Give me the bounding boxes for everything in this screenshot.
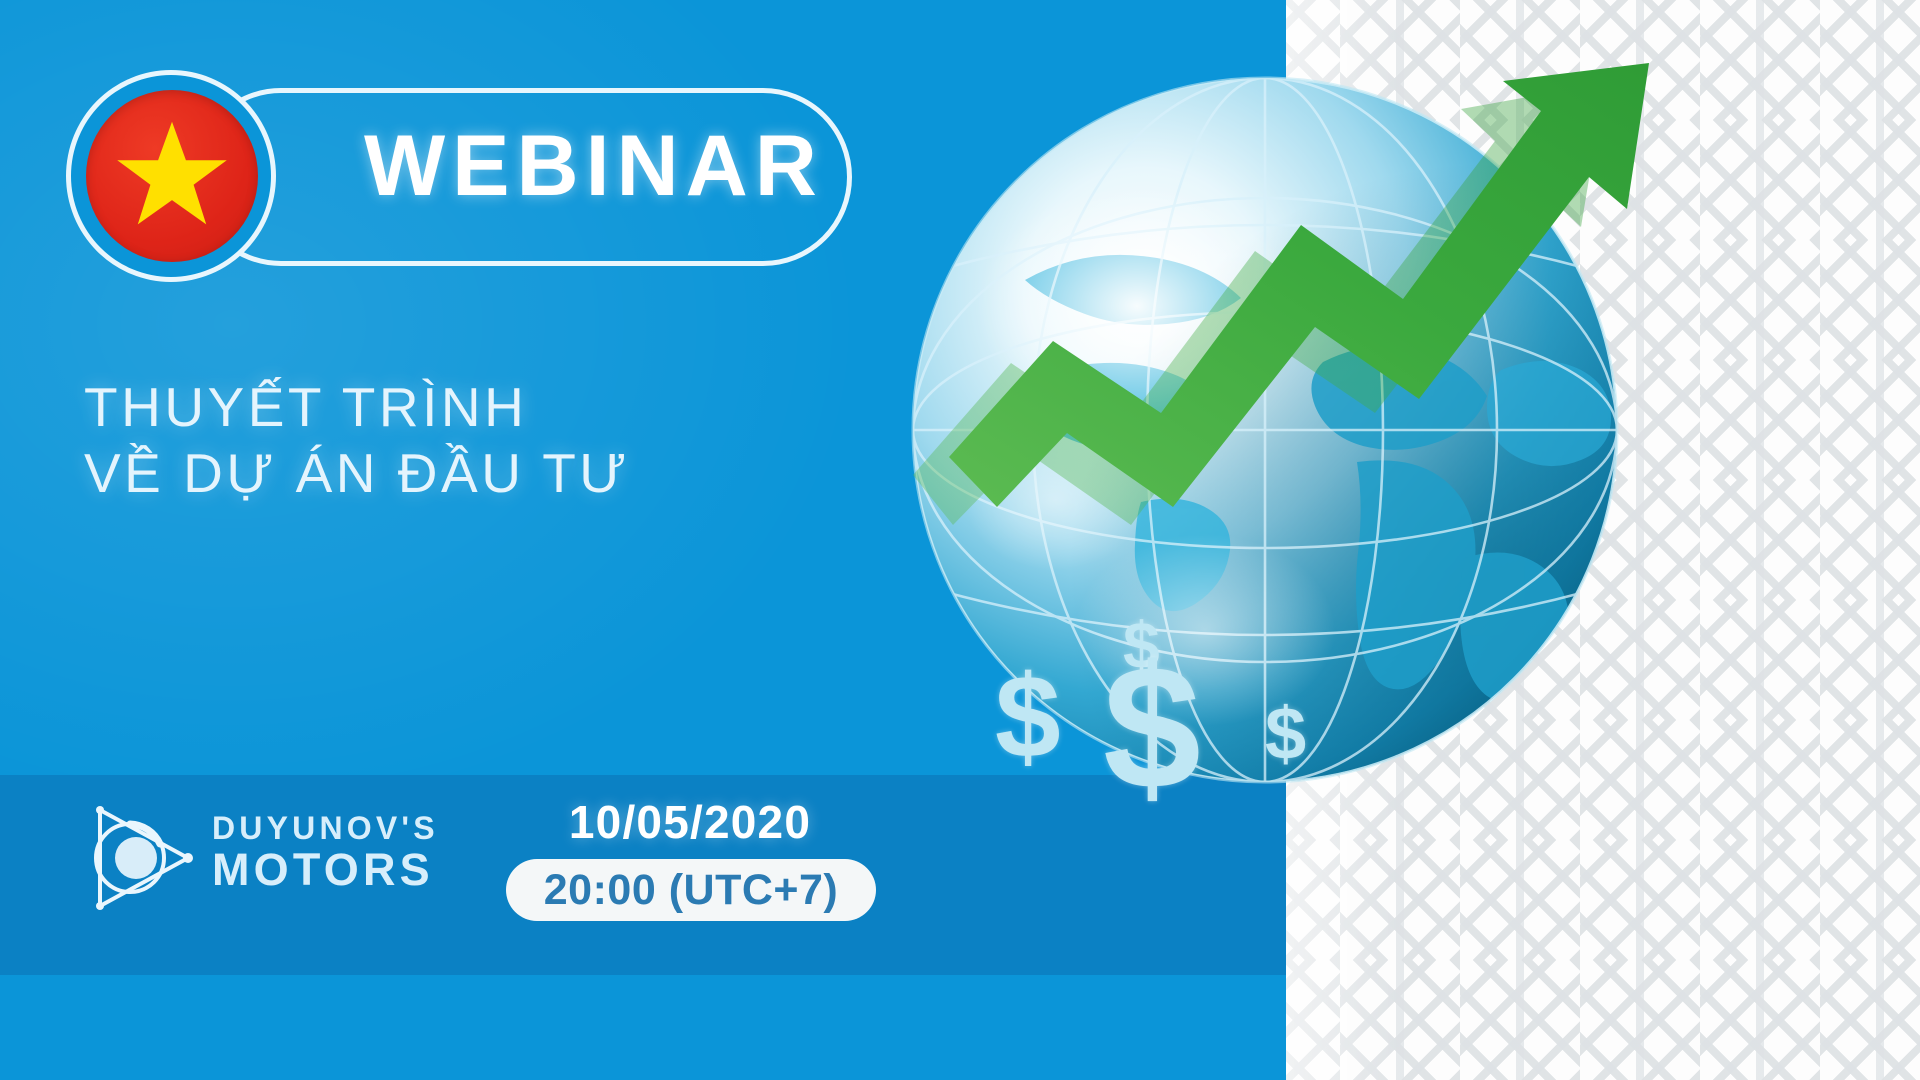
vietnam-flag-icon: [86, 90, 258, 262]
growth-arrow-icon: [905, 55, 1695, 615]
subtitle-line-1: THUYẾT TRÌNH: [84, 374, 630, 440]
subtitle-line-2: VỀ DỰ ÁN ĐẦU TƯ: [84, 440, 630, 506]
event-datetime: 10/05/2020 20:00 (UTC+7): [500, 795, 880, 925]
event-time: 20:00 (UTC+7): [544, 866, 838, 915]
webinar-title: WEBINAR: [364, 123, 824, 209]
duyunov-motors-logo-icon: [84, 800, 196, 916]
star-icon: [113, 117, 231, 235]
brand-logo: DUYUNOV'S MOTORS: [84, 800, 424, 920]
brand-line-2: MOTORS: [212, 846, 439, 894]
globe-graphic: $ $ $ $: [905, 55, 1695, 865]
event-date: 10/05/2020: [500, 795, 880, 849]
webinar-banner: $ $ $ $ WEBINAR: [0, 0, 1920, 1080]
subtitle: THUYẾT TRÌNH VỀ DỰ ÁN ĐẦU TƯ: [84, 374, 630, 506]
event-time-pill: 20:00 (UTC+7): [506, 859, 876, 921]
brand-wordmark: DUYUNOV'S MOTORS: [212, 812, 439, 894]
brand-line-1: DUYUNOV'S: [212, 812, 439, 846]
webinar-badge: WEBINAR: [64, 70, 804, 285]
